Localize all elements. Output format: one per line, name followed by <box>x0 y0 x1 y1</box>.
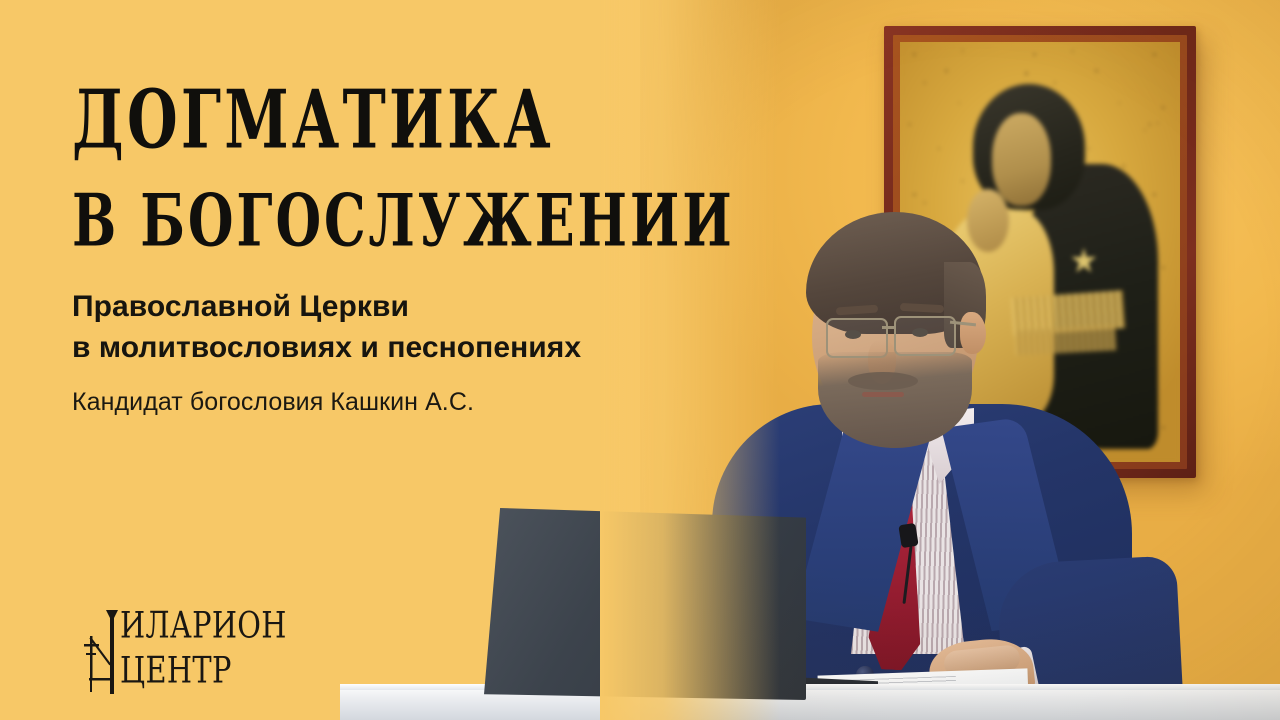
eyeglasses-bridge <box>882 326 896 329</box>
desk-front-edge <box>340 684 1280 690</box>
video-title-card: ДОГМАТИКА В БОГОСЛУЖЕНИИ Православной Це… <box>0 0 1280 720</box>
logo-line-1: ИЛАРИОН <box>120 608 287 645</box>
title-line-2: В БОГОСЛУЖЕНИИ <box>72 185 770 256</box>
title-line-1: ДОГМАТИКА <box>72 82 770 161</box>
cross-monogram-icon <box>80 606 124 698</box>
speaker-ear <box>960 312 986 354</box>
logo-line-2: ЦЕНТР <box>120 653 287 690</box>
author-credit: Кандидат богословия Кашкин А.С. <box>72 388 474 417</box>
eyeglasses-lens-right <box>894 316 956 356</box>
subtitle-line-1: Православной Церкви <box>72 286 752 327</box>
speaker-mustache <box>848 372 918 390</box>
subtitle-block: Православной Церкви в молитвословиях и п… <box>72 286 752 369</box>
subtitle-line-2: в молитвословиях и песнопениях <box>72 327 752 368</box>
title-block: ДОГМАТИКА В БОГОСЛУЖЕНИИ <box>72 82 792 238</box>
logo-wordmark: ИЛАРИОН ЦЕНТР <box>120 608 299 684</box>
ilarion-center-logo[interactable]: ИЛАРИОН ЦЕНТР <box>80 606 300 702</box>
lapel-microphone-icon <box>898 523 918 548</box>
speaker-mouth <box>862 392 904 397</box>
